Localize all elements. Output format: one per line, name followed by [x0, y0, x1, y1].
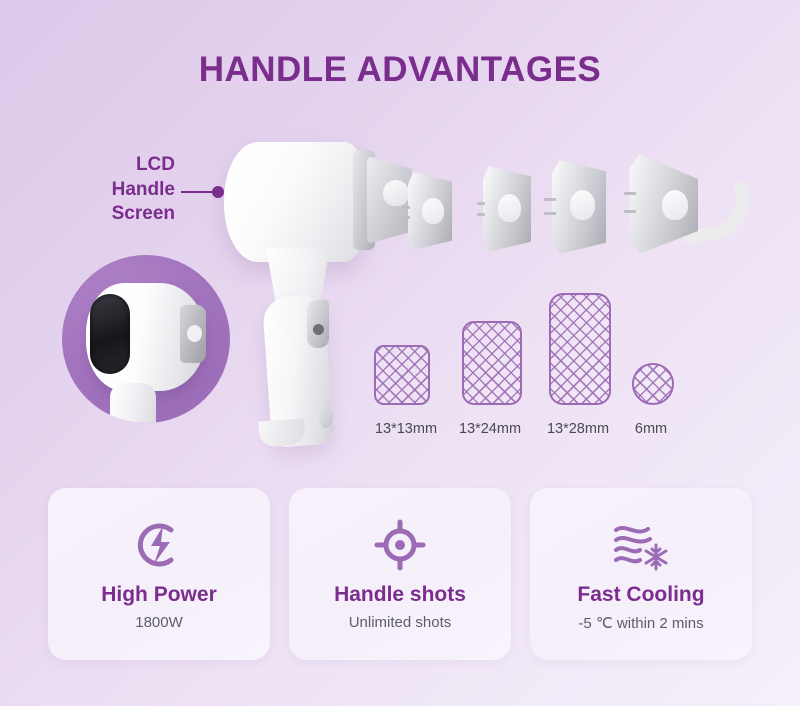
spot-pad-2 [462, 321, 522, 405]
inset-grip [110, 383, 156, 423]
spot-size-group: 13*13mm 13*24mm 13*28mm 6mm [360, 285, 690, 445]
spot-label-2: 13*24mm [440, 421, 540, 437]
inset-lcd-screen [90, 294, 130, 374]
tip-medium-prong [477, 202, 485, 205]
tip-small-prong-2 [402, 216, 410, 219]
spot-label-4: 6mm [601, 421, 701, 437]
tip-small-prong [402, 206, 410, 209]
tip-small [408, 172, 452, 250]
tip-large [552, 160, 606, 254]
tip-medium-window [498, 194, 521, 222]
feature-card-high-power[interactable]: High Power 1800W [48, 488, 270, 660]
tip-small-window [422, 198, 444, 224]
handle-cable-port [319, 406, 333, 428]
tip-large-prong-2 [544, 212, 556, 215]
spot-pad-4 [632, 363, 674, 405]
feature-card-handle-shots[interactable]: Handle shots Unlimited shots [289, 488, 511, 660]
callout-line-3: Screen [112, 203, 175, 224]
handle-head [224, 142, 364, 262]
crosshair-target-icon [374, 517, 426, 573]
page-title: HANDLE ADVANTAGES [0, 50, 800, 90]
callout-leader-line [181, 191, 214, 193]
feature-subtitle: -5 ℃ within 2 mins [578, 614, 703, 632]
spot-pad-3 [549, 293, 611, 405]
feature-subtitle: Unlimited shots [349, 614, 452, 631]
spot-pad-1 [374, 345, 430, 405]
handle-lens [383, 180, 409, 206]
feature-subtitle: 1800W [135, 614, 183, 631]
feature-card-fast-cooling[interactable]: Fast Cooling -5 ℃ within 2 mins [530, 488, 752, 660]
feature-title: Fast Cooling [577, 583, 704, 607]
handle-trigger [307, 300, 329, 348]
feature-card-group: High Power 1800W Handle shots Unlimited … [48, 488, 752, 660]
feature-title: High Power [101, 583, 217, 607]
power-bolt-icon [133, 517, 185, 573]
tip-xlarge-window [662, 190, 688, 220]
tip-medium-prong-2 [477, 213, 485, 216]
infographic-stage: HANDLE ADVANTAGES LCD Handle Screen [0, 0, 800, 706]
tip-medium [483, 166, 531, 252]
lcd-screen-closeup [62, 255, 230, 423]
tip-large-window [570, 190, 595, 220]
callout-line-2: Handle [112, 179, 175, 200]
airflow-snowflake-icon [610, 517, 672, 573]
tip-large-prong [544, 198, 556, 201]
tip-xlarge-prong-2 [624, 210, 636, 213]
tip-xlarge-prong [624, 192, 636, 195]
feature-title: Handle shots [334, 583, 466, 607]
inset-nozzle [180, 305, 206, 363]
lcd-callout-label: LCD Handle Screen [60, 153, 175, 227]
callout-line-1: LCD [136, 154, 175, 175]
tip-xlarge-with-cable [628, 152, 714, 256]
